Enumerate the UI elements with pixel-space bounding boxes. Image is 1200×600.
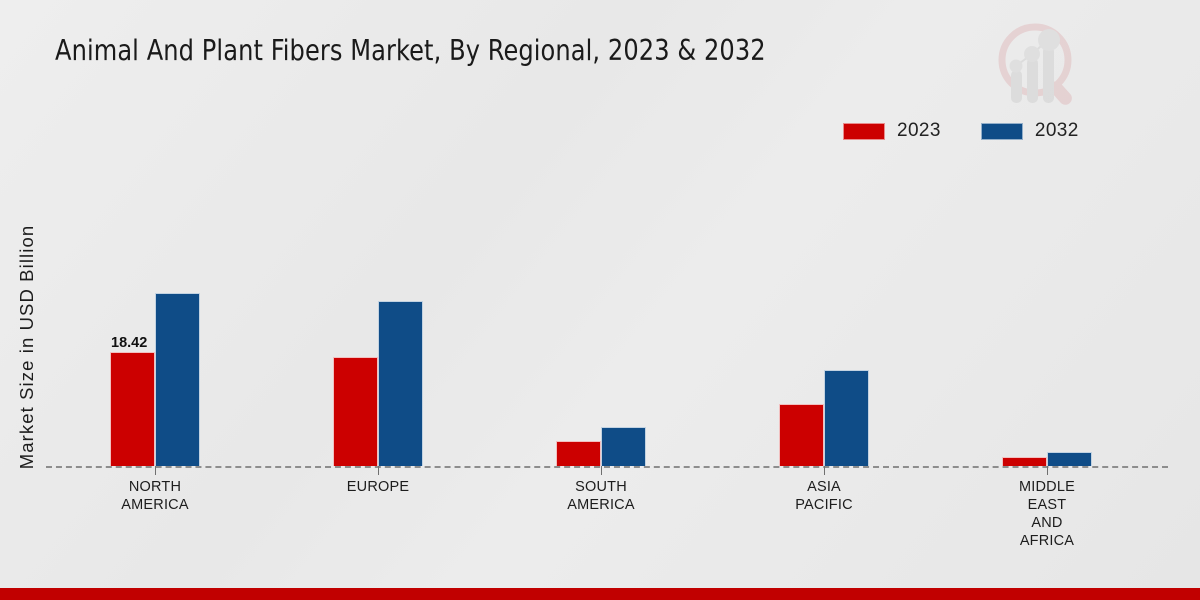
bar-2023[interactable]	[1002, 457, 1047, 466]
bars	[110, 136, 200, 466]
x-axis-label-line: EUROPE	[298, 478, 458, 496]
x-axis-label: SOUTHAMERICA	[521, 478, 681, 514]
x-axis-label-line: SOUTH	[521, 478, 681, 496]
bar-2023[interactable]	[110, 352, 155, 466]
x-axis-tick	[1047, 466, 1048, 475]
x-axis-label-line: AMERICA	[75, 496, 235, 514]
x-axis-baseline	[46, 466, 1168, 468]
bar-2023[interactable]	[556, 441, 601, 466]
bar-2032[interactable]	[824, 370, 869, 466]
bar-2023[interactable]	[779, 404, 824, 466]
chart-canvas: Animal And Plant Fibers Market, By Regio…	[0, 0, 1200, 600]
bar-group	[1002, 136, 1092, 466]
x-axis-label: EUROPE	[298, 478, 458, 496]
bar-group	[779, 136, 869, 466]
bar-group	[110, 136, 200, 466]
x-axis-tick	[155, 466, 156, 475]
x-axis-label-line: EAST	[967, 496, 1127, 514]
plot-area: NORTHAMERICAEUROPESOUTHAMERICAASIAPACIFI…	[0, 0, 1200, 600]
x-axis-tick	[824, 466, 825, 475]
x-axis-label-line: AFRICA	[967, 532, 1127, 550]
bars	[556, 136, 646, 466]
x-axis-label: NORTHAMERICA	[75, 478, 235, 514]
x-axis-label-line: PACIFIC	[744, 496, 904, 514]
x-axis-label-line: AMERICA	[521, 496, 681, 514]
x-axis-tick	[601, 466, 602, 475]
bars	[1002, 136, 1092, 466]
bar-group	[333, 136, 423, 466]
bar-group	[556, 136, 646, 466]
bars	[779, 136, 869, 466]
x-axis-label: ASIAPACIFIC	[744, 478, 904, 514]
x-axis-label-line: MIDDLE	[967, 478, 1127, 496]
data-label: 18.42	[111, 335, 147, 351]
bar-2032[interactable]	[601, 427, 646, 466]
x-axis-label-line: NORTH	[75, 478, 235, 496]
bar-2032[interactable]	[378, 301, 423, 466]
bar-2032[interactable]	[155, 293, 200, 466]
bar-2032[interactable]	[1047, 452, 1092, 466]
footer-accent-bar	[0, 588, 1200, 600]
x-axis-label: MIDDLEEASTANDAFRICA	[967, 478, 1127, 550]
bar-2023[interactable]	[333, 357, 378, 466]
x-axis-tick	[378, 466, 379, 475]
bars	[333, 136, 423, 466]
x-axis-label-line: ASIA	[744, 478, 904, 496]
x-axis-label-line: AND	[967, 514, 1127, 532]
